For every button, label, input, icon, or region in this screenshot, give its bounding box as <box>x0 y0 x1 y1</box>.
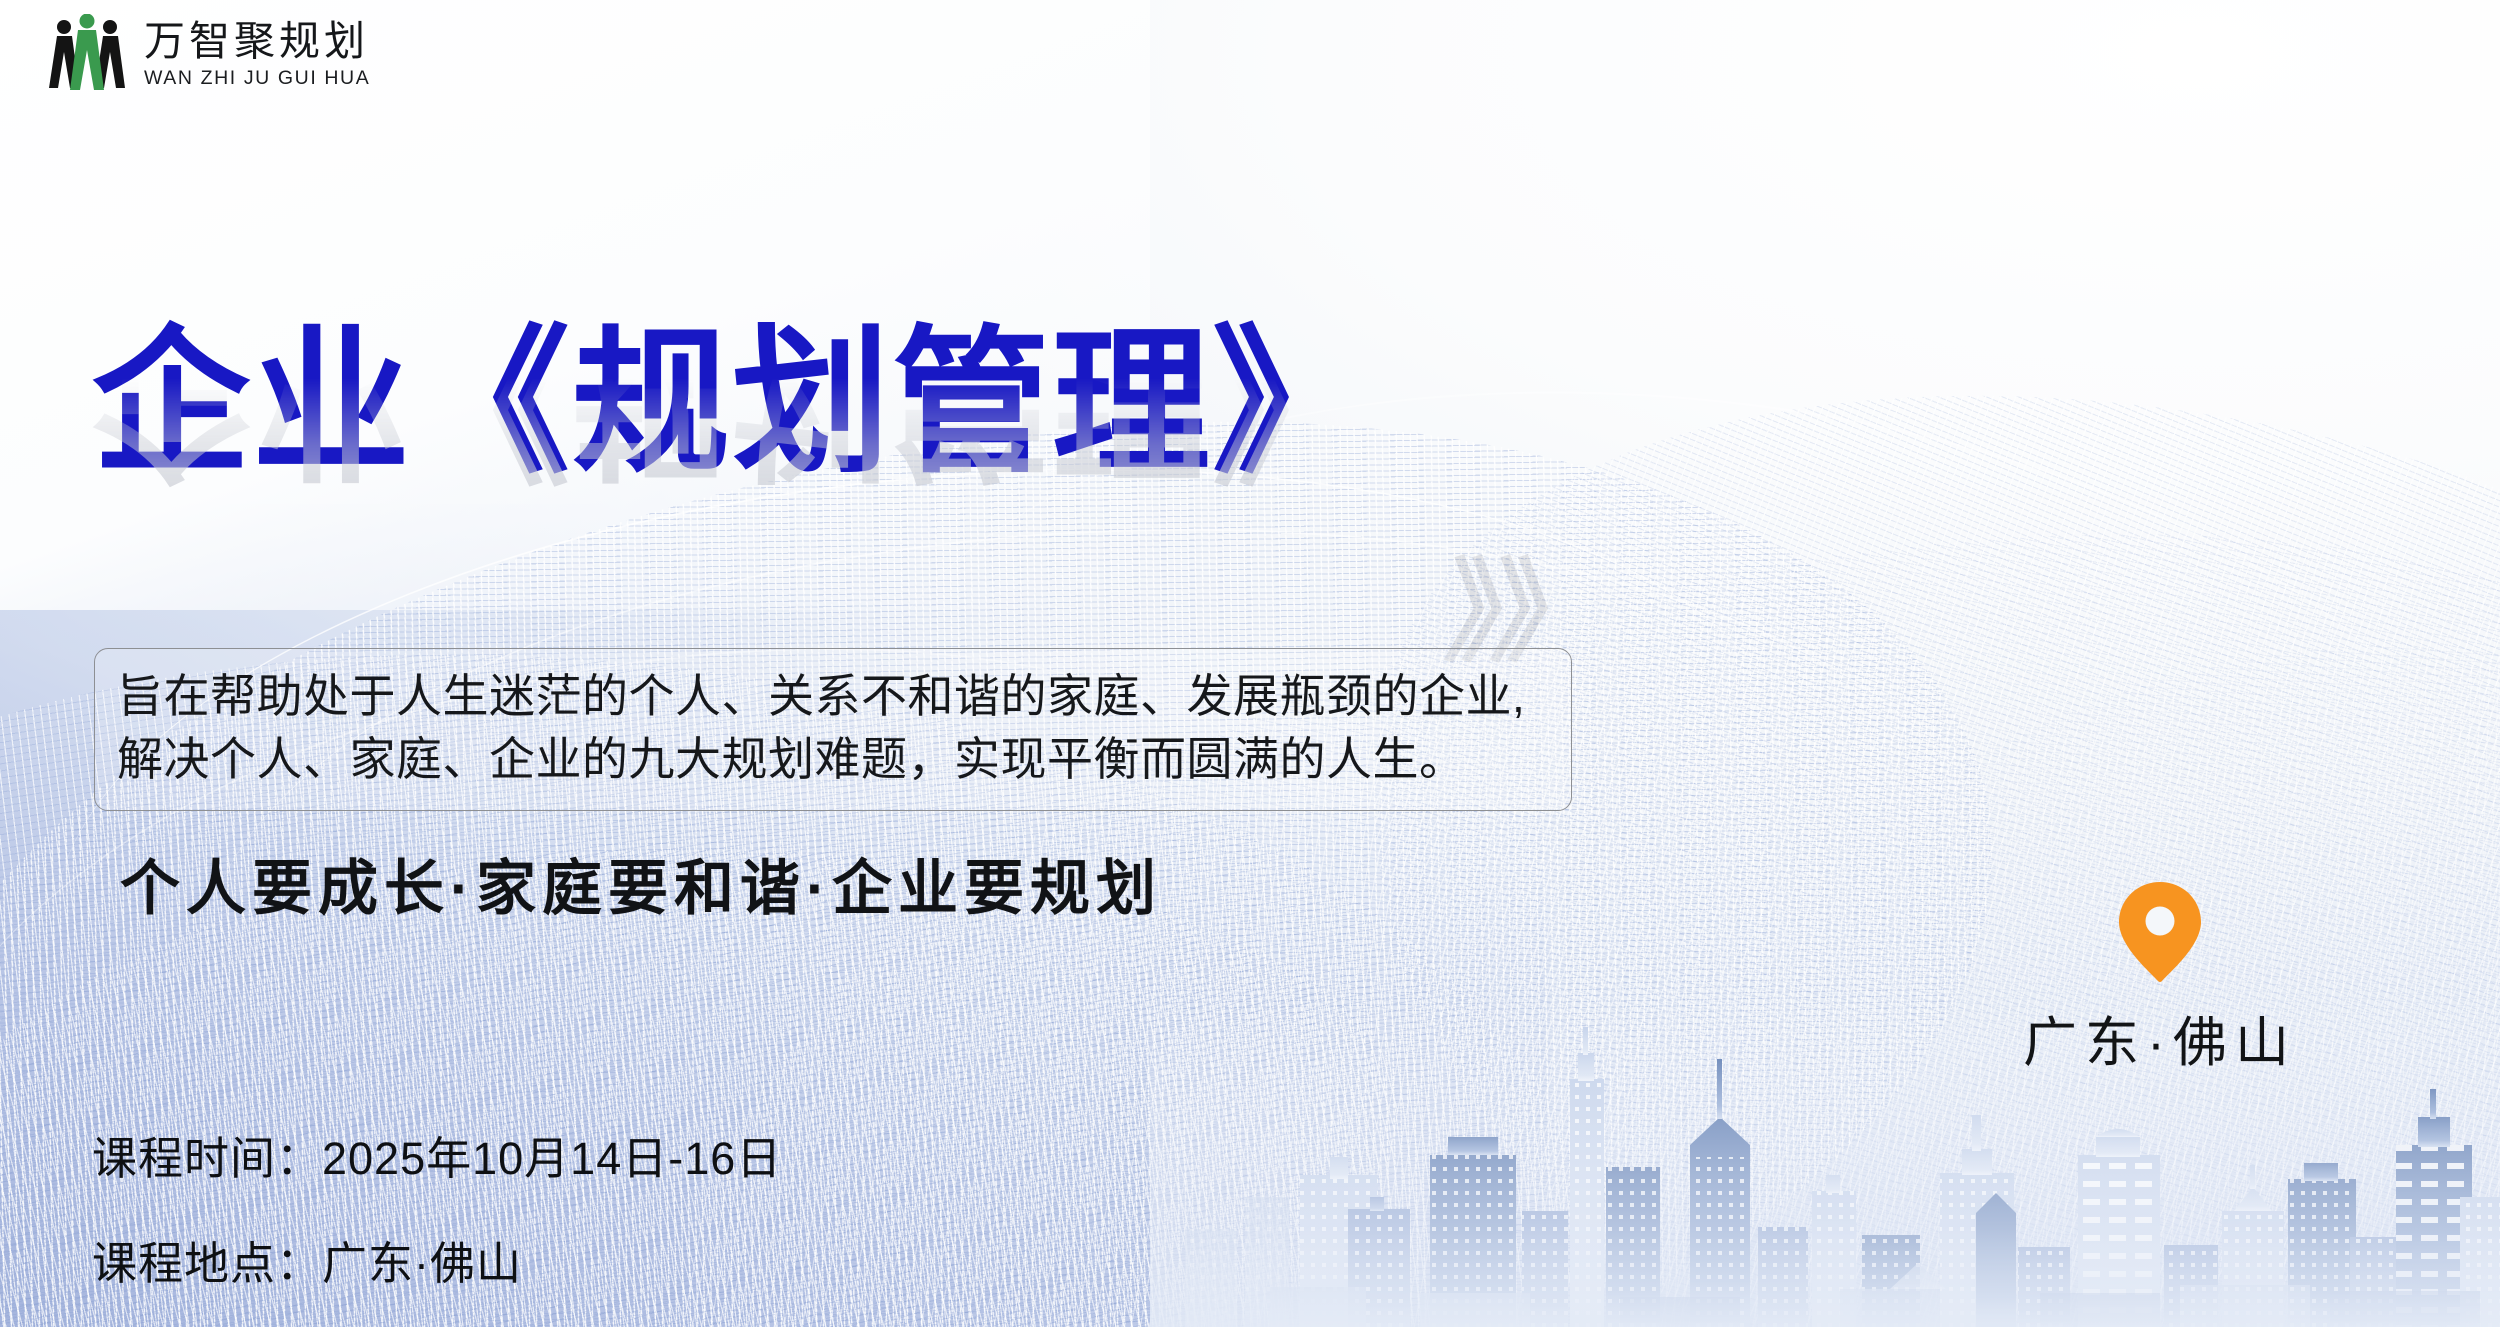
location-block: 广东·佛山 <box>1960 880 2360 1077</box>
map-pin-icon <box>2117 880 2203 984</box>
course-time: 课程时间：2025年10月14日-16日 <box>92 1122 782 1187</box>
page-title-reflection: 企业《规划管理》 <box>92 371 1652 489</box>
course-info-block: 课程时间：2025年10月14日-16日 课程地点：广东·佛山 <box>92 1122 782 1292</box>
description-box: 旨在帮助处于人生迷茫的个人、关系不和谐的家庭、发展瓶颈的企业, 解决个人、家庭、… <box>94 648 1572 811</box>
description-line-2: 解决个人、家庭、企业的九大规划难题，实现平衡而圆满的人生。 <box>117 728 1549 791</box>
brand-logo: 万智聚规划 WAN ZHI JU GUI HUA <box>48 14 370 96</box>
description-line-1: 旨在帮助处于人生迷茫的个人、关系不和谐的家庭、发展瓶颈的企业, <box>117 665 1549 728</box>
location-label: 广东·佛山 <box>2023 998 2297 1077</box>
three-people-logo-icon <box>48 14 126 96</box>
banner-canvas: 万智聚规划 WAN ZHI JU GUI HUA 》》 企业《规划管理》 企业《… <box>0 0 2500 1327</box>
tagline: 个人要成长·家庭要和谐·企业要规划 <box>120 840 1162 927</box>
hero-title-block: 企业《规划管理》 企业《规划管理》 <box>92 318 1652 607</box>
brand-name-cn: 万智聚规划 <box>144 21 370 62</box>
brand-name-en: WAN ZHI JU GUI HUA <box>144 69 370 89</box>
course-place: 课程地点：广东·佛山 <box>92 1227 782 1292</box>
